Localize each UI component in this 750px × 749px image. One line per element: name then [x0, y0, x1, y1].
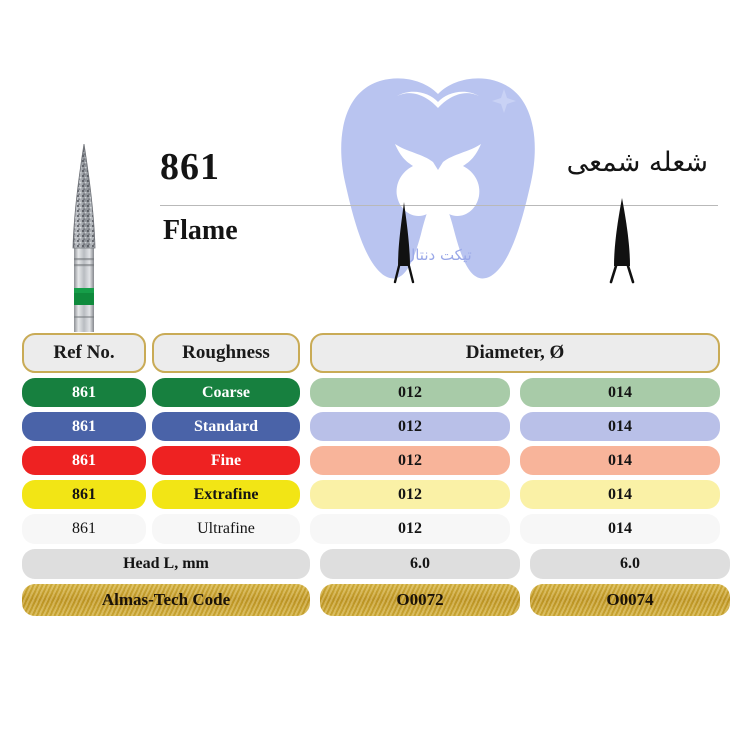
almas-code-014: O0074 — [530, 584, 730, 616]
head-length-012: 6.0 — [320, 549, 520, 579]
cell-diameter-014-3: 014 — [520, 480, 720, 509]
cell-roughness-3: Extrafine — [152, 480, 300, 509]
header-ref-no: Ref No. — [22, 333, 146, 373]
table-row: 861Extrafine012014 — [22, 480, 730, 509]
cell-ref-no-2: 861 — [22, 446, 146, 475]
table-row: 861Fine012014 — [22, 446, 730, 475]
table-header-row: Ref No. Roughness Diameter, Ø — [22, 333, 730, 373]
table-row: 861Standard012014 — [22, 412, 730, 441]
cell-ref-no-3: 861 — [22, 480, 146, 509]
cell-diameter-014-2: 014 — [520, 446, 720, 475]
bur-silhouette-012 — [386, 198, 422, 288]
cell-diameter-012-0: 012 — [310, 378, 510, 407]
product-header: 861 شعله شمعی Flame — [0, 120, 750, 320]
cell-diameter-012-2: 012 — [310, 446, 510, 475]
table-row: 861Coarse012014 — [22, 378, 730, 407]
cell-diameter-014-4: 014 — [520, 514, 720, 544]
bur-photo — [52, 140, 116, 332]
almas-code-label: Almas-Tech Code — [22, 584, 310, 616]
cell-roughness-2: Fine — [152, 446, 300, 475]
cell-diameter-014-0: 014 — [520, 378, 720, 407]
almas-code-012: O0072 — [320, 584, 520, 616]
bur-silhouette-014 — [602, 194, 642, 288]
cell-ref-no-0: 861 — [22, 378, 146, 407]
table-row: 861Ultrafine012014 — [22, 514, 730, 544]
cell-ref-no-1: 861 — [22, 412, 146, 441]
cell-roughness-4: Ultrafine — [152, 514, 300, 544]
header-roughness: Roughness — [152, 333, 300, 373]
head-length-label: Head L, mm — [22, 549, 310, 579]
cell-diameter-012-4: 012 — [310, 514, 510, 544]
cell-diameter-012-1: 012 — [310, 412, 510, 441]
cell-roughness-0: Coarse — [152, 378, 300, 407]
specification-table: Ref No. Roughness Diameter, Ø 861Coarse0… — [22, 333, 730, 621]
cell-roughness-1: Standard — [152, 412, 300, 441]
header-diameter: Diameter, Ø — [310, 333, 720, 373]
almas-code-row: Almas-Tech Code O0072 O0074 — [22, 584, 730, 616]
head-length-row: Head L, mm 6.0 6.0 — [22, 549, 730, 579]
cell-diameter-012-3: 012 — [310, 480, 510, 509]
head-length-014: 6.0 — [530, 549, 730, 579]
shape-name-farsi: شعله شمعی — [567, 148, 708, 178]
shape-name-english: Flame — [163, 215, 238, 247]
cell-ref-no-4: 861 — [22, 514, 146, 544]
cell-diameter-014-1: 014 — [520, 412, 720, 441]
